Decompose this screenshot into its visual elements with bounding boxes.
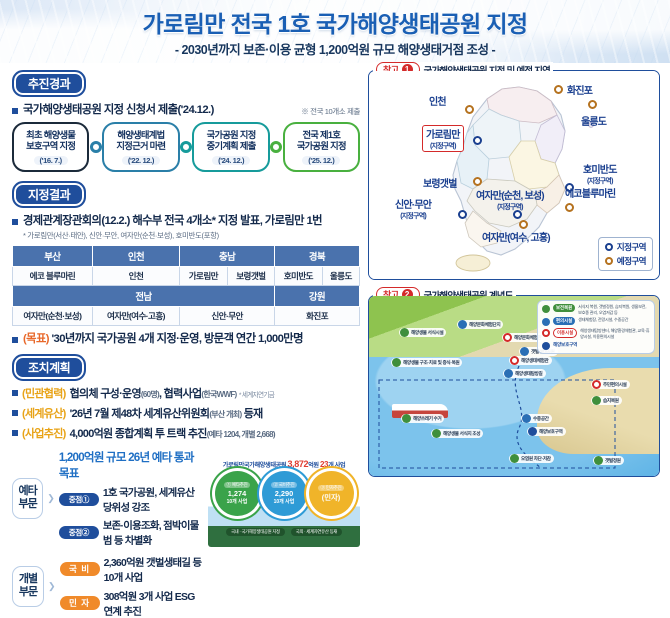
concept-legend-item-protected: 해양보호구역 — [542, 341, 650, 350]
map-dot-yeojaman-yg — [519, 220, 528, 229]
concept-marker-label: 해양생물 서식시설 — [411, 330, 443, 336]
map-label-sub: (지정구역) — [426, 141, 460, 151]
concept-legend: 보전복원 서식지 복원, 갯벌정원, 습지복원, 생물보전, 보호종 관리, 오… — [537, 300, 655, 354]
flow-step-4-line2: 국가공원 지정 — [297, 141, 346, 153]
budget-row: 국 비 2,360억원 갯벌생태길 등 10개 사업 — [60, 554, 204, 584]
budget-row-tag: 중점① — [59, 493, 99, 506]
map-label-garorimman: 가로림만 (지정구역) — [422, 125, 464, 152]
chevron-right-icon: ❯ — [48, 581, 56, 592]
budget-side-line1: 개별 — [19, 573, 37, 585]
budget-section-individual: 개별 부문 ❯ 국 비 2,360억원 갯벌생태길 등 10개 사업 민 자 3… — [12, 554, 204, 618]
concept-marker-resident-facility: 주민편의시설 — [591, 380, 630, 389]
flow-step-2: 해양생태계법 지정근거 마련 ('22. 12.) — [102, 122, 179, 172]
action-plan-value: 협의체 구성·운영 — [70, 388, 141, 400]
bullet-square-icon — [12, 430, 18, 436]
red-ring-icon — [503, 333, 512, 342]
flow-step-4-line1: 전국 제1호 — [302, 130, 340, 142]
reference-1-box: 참고 1 국가해양생태공원 지정 및 예정 지역 — [368, 70, 660, 280]
map-label-ulleungdo: 울릉도 — [581, 113, 606, 128]
table-cell: 여자만(여수·고흥) — [92, 307, 179, 326]
map-label-text: 인천 — [429, 93, 446, 108]
result-bullet: 경제관계장관회의(12.2.) 해수부 전국 4개소* 지정 발표, 가로림만 … — [12, 214, 360, 228]
concept-marker-label: 해양생물 구조·치료 및 증식·복원 — [403, 360, 459, 366]
concept-legend-desc: 해양생태탐방센터, 해양환경체험관, 교육·휴양시설, 이용편의시설 — [580, 328, 650, 339]
page-title: 가로림만 전국 1호 국가해양생태공원 지정 — [0, 5, 670, 39]
green-dot-icon — [542, 305, 550, 313]
budget-circle-graphic: 가로림만국가해양생태공원 3,872억원 23개 사업 ① 예타추진 1,274… — [208, 451, 360, 547]
concept-legend-chip: 보전복원 — [553, 304, 575, 312]
table-cell: 여자만(순천·보성) — [13, 307, 93, 326]
budget-row-tag: 중점② — [59, 526, 99, 539]
circle-sub: 10개 사업 — [227, 498, 248, 505]
action-plan-key: (민관협력) — [22, 385, 66, 401]
circle-graphic-title: 가로림만국가해양생태공원 3,872억원 23개 사업 — [208, 451, 360, 469]
map-dot-ulleungdo — [588, 100, 597, 109]
red-ring-icon — [592, 380, 601, 389]
concept-marker-label: 수중공간 — [533, 416, 549, 422]
table-cell: 호미반도 — [275, 267, 323, 286]
map-dot-garorimman — [473, 136, 482, 145]
budget-side-line1: 예타 — [19, 485, 37, 497]
concept-marker-eco-hall: 해양생태체험관 — [509, 356, 552, 365]
concept-legend-item-conservation: 보전복원 서식지 복원, 갯벌정원, 습지복원, 생물보전, 보호종 관리, 오… — [542, 304, 650, 315]
circle-label: ① 예타추진 — [224, 482, 251, 488]
budget-row: 중점① 1호 국가공원, 세계유산 당위성 강조 — [59, 484, 204, 514]
budget-row-tag: 민 자 — [60, 596, 100, 610]
blue-dot-icon — [542, 318, 550, 326]
map-label-ecobluemarine: 에코블루마린 — [565, 185, 615, 200]
map-dot-ecobluemarine — [565, 203, 574, 212]
flow-connector-3 — [270, 141, 283, 153]
map-label-homibando: 호미반도 (지정구역) — [583, 161, 617, 186]
navy-dot-icon — [528, 427, 537, 436]
flow-connector-2 — [180, 141, 193, 153]
concept-marker-pollution-reduction: 오염원 차단·저감 — [509, 454, 554, 463]
result-footnote: * 가로림만(서산·태안), 신안·무안, 여자만(순천·보성), 호미반도(포… — [23, 230, 360, 241]
table-cell: 보령갯벌 — [227, 267, 275, 286]
concept-diagram: 해양문화체험단지 해양생물 서식시설 해양문화체험관 해양생물 구조·치료 및 … — [369, 296, 659, 476]
concept-legend-desc: 서식지 복원, 갯벌정원, 습지복원, 생물보전, 보호종 관리, 오염저감 등 — [578, 304, 650, 315]
map-legend: 지정구역 예정구역 — [598, 237, 653, 271]
table-header-incheon: 인천 — [92, 246, 179, 267]
circle-graphic-amount-unit: 억원 — [308, 462, 319, 469]
legend-dot-blue-icon — [605, 243, 613, 251]
concept-marker-habitat-creation: 해양생물 서식지 조성 — [431, 429, 483, 438]
map-legend-item-designated: 지정구역 — [605, 241, 646, 253]
budget-row-text: 1호 국가공원, 세계유산 당위성 강조 — [103, 484, 204, 514]
table-header-gangwon: 강원 — [275, 286, 360, 307]
action-plan-tiny-note: * 세계자연기금 — [239, 392, 274, 399]
map-label-text: 여자만(순천, 보성) — [476, 187, 544, 202]
concept-marker-cultural-complex: 해양문화체험단지 — [457, 320, 503, 329]
green-dot-icon — [594, 456, 603, 465]
green-dot-icon — [510, 454, 519, 463]
budget-row-text: 보존·이용조화, 점박이물범 등 차별화 — [103, 517, 204, 547]
action-plan-dim2: (한국WWF) — [201, 390, 236, 399]
flow-connector-1 — [89, 141, 102, 153]
table-header-row-2: 전남 강원 — [13, 286, 360, 307]
flow-step-4: 전국 제1호 국가공원 지정 ('25. 12.) — [283, 122, 360, 172]
budget-side-line2: 부문 — [19, 586, 37, 598]
table-header-jeonnam: 전남 — [13, 286, 275, 307]
concept-legend-chip: 편의시설 — [553, 317, 575, 325]
section-progress-label: 추진경과 — [12, 70, 86, 97]
chevron-right-icon: ❯ — [47, 493, 55, 504]
table-header-row-1: 부산 인천 충남 경북 — [13, 246, 360, 267]
bullet-square-icon — [12, 410, 18, 416]
circle-graphic-count: 23 — [320, 460, 328, 469]
circle-sub: 10개 사업 — [274, 498, 295, 505]
bullet-square-icon — [12, 390, 18, 396]
green-dot-icon — [402, 414, 411, 423]
concept-legend-chip: 해양보호구역 — [553, 342, 577, 348]
action-plan-value: 4,000억원 종합계획 투 트랙 추진 — [70, 428, 207, 440]
table-row: 에코 블루마린 인천 가로림만 보령갯벌 호미반도 울릉도 — [13, 267, 360, 286]
map-legend-item-planned: 예정구역 — [605, 255, 646, 267]
blue-dot-icon — [520, 347, 529, 356]
flow-step-1-line2: 보호구역 지정 — [26, 141, 75, 153]
map-label-hwajinpo: 화진포 — [567, 82, 592, 97]
budget-row-tag: 국 비 — [60, 562, 100, 576]
concept-marker-label: 갯벌정원 — [605, 458, 621, 464]
ring-icon — [180, 141, 192, 153]
progress-flow: 최초 해양생물 보호구역 지정 ('16. 7.) 해양생태계법 지정근거 마련… — [12, 122, 360, 172]
table-header-gyeongbuk: 경북 — [275, 246, 360, 267]
map-label-text: 호미반도 — [583, 161, 617, 176]
section-result-label: 지정결과 — [12, 181, 86, 208]
concept-marker-rescue-restore: 해양생물 구조·치료 및 증식·복원 — [391, 358, 462, 367]
infographic-page: 가로림만 전국 1호 국가해양생태공원 지정 - 2030년까지 보존·이용 균… — [0, 0, 670, 477]
circle-graphic-footer: 국내 · 국가해양생태공원 지정 국외 · 세계자연유산 등재 — [208, 528, 360, 536]
progress-bullet-text: 국가해양생태공원 지정 신청서 제출('24.12.) — [23, 103, 214, 117]
concept-marker-habitat-facility: 해양생물 서식시설 — [399, 328, 446, 337]
korea-map: 인천 화진포 울릉도 가로림만 (지정구역) 보령갯벌 — [369, 71, 659, 279]
map-label-sinan-muan: 신안·무안 (지정구역) — [395, 196, 431, 221]
bullet-square-icon — [12, 108, 18, 114]
flow-step-2-line2: 지정근거 마련 — [116, 141, 165, 153]
map-label-text: 에코블루마린 — [565, 185, 615, 200]
circle-value: 1,274 — [228, 489, 247, 498]
green-dot-icon — [392, 358, 401, 367]
concept-marker-tidal-garden: 갯벌정원 — [593, 456, 624, 465]
navy-dot-icon — [542, 342, 550, 350]
circle-national: ② 국비추진 2,290 10개 사업 — [262, 471, 307, 516]
bullet-square-icon — [12, 219, 18, 225]
map-label-sub: (지정구역) — [395, 211, 431, 221]
map-dot-yeojaman-sb — [513, 210, 522, 219]
flow-step-4-date: ('25. 12.) — [302, 156, 340, 165]
concept-marker-protected-area: 해양보호구역 — [527, 427, 566, 436]
red-ring-icon — [542, 329, 550, 337]
budget-block: 예타 부문 ❯ 1,200억원 규모 26년 예타 통과 목표 중점① 1호 국… — [12, 449, 360, 547]
goal-text: '30년까지 국가공원 4개 지정·운영, 방문객 연간 1,000만명 — [51, 333, 302, 345]
green-dot-icon — [400, 328, 409, 337]
action-plan-value: '26년 7월 제48차 세계유산위원회 — [70, 408, 210, 420]
ring-icon — [90, 141, 102, 153]
action-plan-key: (사업추진) — [22, 425, 66, 441]
goal-tag: (목표) — [23, 333, 49, 345]
map-dot-hwajinpo — [554, 85, 563, 94]
blue-dot-icon — [458, 320, 467, 329]
concept-marker-label: 해양생물 서식지 조성 — [443, 431, 480, 437]
concept-marker-wetland-restore: 습지복원 — [591, 396, 622, 405]
map-label-text: 화진포 — [567, 82, 592, 97]
budget-row: 중점② 보존·이용조화, 점박이물범 등 차별화 — [59, 517, 204, 547]
action-plan-dim: (부산 개최) — [209, 410, 241, 419]
budget-row: 민 자 308억원 3개 사업 ESG 연계 추진 — [60, 588, 204, 618]
map-dot-sinan-muan — [458, 210, 467, 219]
designation-table: 부산 인천 충남 경북 에코 블루마린 인천 가로림만 보령갯벌 호미반도 울릉… — [12, 245, 360, 326]
green-dot-icon — [592, 396, 601, 405]
circle-graphic-count-unit: 개 사업 — [328, 462, 345, 469]
concept-marker-waste-collection: 해양쓰레기 수거 — [401, 414, 444, 423]
action-plan-key: (세계유산) — [22, 405, 66, 421]
concept-marker-eco-trail: 해양생태탐방길 — [503, 369, 546, 378]
page-subtitle: - 2030년까지 보존·이용 균형 1,200억원 규모 해양생태거점 조성 … — [0, 39, 670, 58]
progress-bullet: 국가해양생태공원 지정 신청서 제출('24.12.) — [12, 103, 214, 117]
table-cell: 화진포 — [275, 307, 360, 326]
ring-icon — [270, 141, 282, 153]
legend-label: 지정구역 — [617, 241, 646, 253]
table-row: 여자만(순천·보성) 여자만(여수·고흥) 신안·무안 화진포 — [13, 307, 360, 326]
reference-2-box: 참고 2 국가해양생태공원 계념도 해양문화체험단지 — [368, 295, 660, 477]
section-progress: 추진경과 국가해양생태공원 지정 신청서 제출('24.12.) ※ 전국 10… — [12, 70, 360, 172]
budget-section-preliminary: 예타 부문 ❯ 1,200억원 규모 26년 예타 통과 목표 중점① 1호 국… — [12, 449, 204, 547]
budget-side-label-preliminary: 예타 부문 — [12, 478, 43, 520]
budget-side-label-individual: 개별 부문 — [12, 566, 44, 608]
action-plan-item: (세계유산) '26년 7월 제48차 세계유산위원회(부산 개최) 등재 — [12, 405, 360, 421]
map-label-text: 가로림만 — [426, 126, 460, 141]
table-cell: 에코 블루마린 — [13, 267, 93, 286]
legend-label: 예정구역 — [617, 255, 646, 267]
flow-step-1-line1: 최초 해양생물 — [26, 130, 75, 142]
blue-dot-icon — [504, 369, 513, 378]
concept-legend-item-usage: 이용시설 해양생태탐방센터, 해양환경체험관, 교육·휴양시설, 이용편의시설 — [542, 328, 650, 339]
map-dot-boryeong — [473, 177, 482, 186]
concept-marker-label: 해양쓰레기 수거 — [413, 416, 441, 422]
map-label-yeojaman-sb: 여자만(순천, 보성) (지정구역) — [476, 187, 544, 212]
table-cell: 가로림만 — [180, 267, 228, 286]
table-cell: 신안·무안 — [180, 307, 275, 326]
concept-marker-label: 해양생태탐방길 — [515, 371, 543, 377]
bullet-square-icon — [12, 337, 18, 343]
budget-side-line2: 부문 — [19, 498, 37, 510]
map-dot-incheon — [465, 105, 474, 114]
circle-footer-item: 국외 · 세계자연유산 등재 — [291, 528, 342, 536]
concept-marker-label: 해양보호구역 — [539, 429, 563, 435]
concept-legend-item-convenience: 편의시설 생태체험장, 전망시설, 수중공간 — [542, 317, 650, 326]
circle-label: ② 국비추진 — [271, 482, 298, 488]
map-label-text: 신안·무안 — [395, 196, 431, 211]
circle-value: (민자) — [322, 492, 341, 503]
red-ring-icon — [510, 356, 519, 365]
table-cell: 인천 — [92, 267, 179, 286]
concept-marker-label: 오염원 차단·저감 — [521, 456, 551, 462]
map-label-incheon: 인천 — [429, 93, 446, 108]
circle-preliminary: ① 예타추진 1,274 10개 사업 — [215, 471, 260, 516]
circle-graphic-circles: ① 예타추진 1,274 10개 사업 ② 국비추진 2,290 10개 사업 … — [208, 471, 360, 516]
concept-legend-desc: 생태체험장, 전망시설, 수중공간 — [578, 317, 628, 323]
table-header-busan: 부산 — [13, 246, 93, 267]
flow-step-2-date: ('22. 12.) — [122, 156, 160, 165]
action-plan-item: (민관협력) 협의체 구성·운영(60명), 협력사업(한국WWF) * 세계자… — [12, 385, 360, 401]
concept-marker-label: 주민편의시설 — [603, 382, 627, 388]
flow-step-3-line1: 국가공원 지정 — [207, 130, 256, 142]
flow-step-3: 국가공원 지정 중기계획 제출 ('24. 12.) — [192, 122, 269, 172]
progress-note: ※ 전국 10개소 제출 — [301, 106, 360, 117]
budget-row-text: 308억원 3개 사업 ESG 연계 추진 — [104, 588, 204, 618]
circle-label: ③ 민자추진 — [318, 485, 345, 491]
legend-dot-brown-icon — [605, 257, 613, 265]
result-bullet-text: 경제관계장관회의(12.2.) 해수부 전국 4개소* 지정 발표, 가로림만 … — [23, 214, 322, 228]
circle-private: ③ 민자추진 (민자) — [309, 471, 354, 516]
left-column: 추진경과 국가해양생태공원 지정 신청서 제출('24.12.) ※ 전국 10… — [12, 70, 360, 547]
section-action-plan-label: 조치계획 — [12, 354, 86, 381]
concept-marker-label: 습지복원 — [603, 398, 619, 404]
section-result: 지정결과 경제관계장관회의(12.2.) 해수부 전국 4개소* 지정 발표, … — [12, 181, 360, 346]
map-label-yeojaman-yg: 여자만(여수, 고흥) — [482, 229, 550, 244]
blue-dot-icon — [522, 414, 531, 423]
map-label-text: 울릉도 — [581, 113, 606, 128]
action-plan-dim: (60명) — [141, 390, 159, 399]
flow-step-3-date: ('24. 12.) — [212, 156, 250, 165]
flow-step-1: 최초 해양생물 보호구역 지정 ('16. 7.) — [12, 122, 89, 172]
concept-marker-label: 해양문화체험단지 — [469, 322, 500, 328]
circle-value: 2,290 — [275, 489, 294, 498]
title-banner: 가로림만 전국 1호 국가해양생태공원 지정 - 2030년까지 보존·이용 균… — [0, 0, 670, 64]
action-plan-item: (사업추진) 4,000억원 종합계획 투 트랙 추진(예타 1204, 개별 … — [12, 425, 360, 441]
circle-graphic-title-pre: 가로림만국가해양생태공원 — [223, 462, 287, 469]
map-label-text: 여자만(여수, 고흥) — [482, 229, 550, 244]
map-label-sub: (지정구역) — [476, 202, 544, 212]
map-label-text: 보령갯벌 — [423, 175, 457, 190]
concept-legend-chip: 이용시설 — [553, 328, 577, 338]
table-cell: 울릉도 — [322, 267, 359, 286]
action-plan-value2: 등재 — [241, 408, 262, 420]
budget-row-text: 2,360억원 갯벌생태길 등 10개 사업 — [104, 554, 204, 584]
map-label-boryeong: 보령갯벌 — [423, 175, 457, 190]
concept-marker-underwater-space: 수중공간 — [521, 414, 552, 423]
flow-step-3-line2: 중기계획 제출 — [207, 141, 256, 153]
section-action-plan: 조치계획 (민관협력) 협의체 구성·운영(60명), 협력사업(한국WWF) … — [12, 354, 360, 441]
circle-graphic-amount: 3,872 — [288, 459, 309, 469]
flow-step-1-date: ('16. 7.) — [34, 156, 68, 165]
result-goal: (목표) '30년까지 국가공원 4개 지정·운영, 방문객 연간 1,000만… — [12, 332, 360, 346]
concept-marker-label: 해양생태체험관 — [521, 358, 549, 364]
right-column: 참고 1 국가해양생태공원 지정 및 예정 지역 — [368, 70, 660, 477]
circle-footer-item: 국내 · 국가해양생태공원 지정 — [226, 528, 285, 536]
green-dot-icon — [432, 429, 441, 438]
table-header-chungnam: 충남 — [180, 246, 275, 267]
action-plan-value2: , 협력사업 — [159, 388, 201, 400]
action-plan-dim: (예타 1204, 개별 2,668) — [207, 430, 275, 439]
flow-step-2-line1: 해양생태계법 — [117, 130, 164, 142]
